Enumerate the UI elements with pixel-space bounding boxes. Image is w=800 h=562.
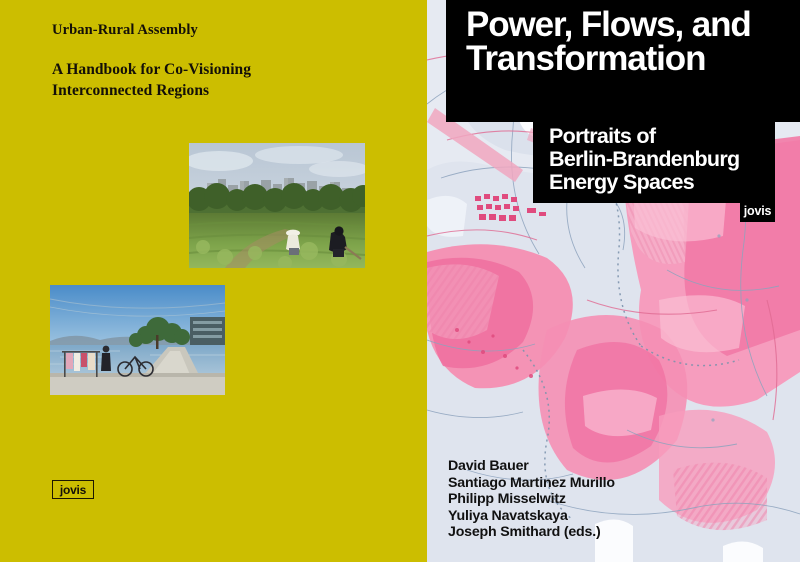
left-cover: Urban-Rural Assembly A Handbook for Co-V…: [0, 0, 427, 562]
waterside-village-photo-art: [50, 285, 225, 395]
editor-name: Santiago Martinez Murillo: [448, 475, 768, 492]
main-title-line2: Transformation: [466, 39, 705, 78]
jovis-logo-left-text: jovis: [60, 484, 86, 496]
urban-farming-photo-art: [189, 143, 365, 268]
jovis-logo-right: jovis: [740, 200, 775, 222]
editor-name: Philipp Misselwitz: [448, 491, 768, 508]
left-main-title: A Handbook for Co-Visioning Interconnect…: [52, 60, 382, 102]
jovis-logo-right-text: jovis: [744, 205, 772, 218]
subtitle-box: Portraits of Berlin-Brandenburg Energy S…: [533, 118, 775, 203]
editor-list: David Bauer Santiago Martinez Murillo Ph…: [448, 458, 768, 541]
main-title-line1: Power, Flows, and: [466, 5, 751, 44]
left-main-title-line2: Interconnected Regions: [52, 82, 209, 99]
subtitle-line3: Energy Spaces: [549, 170, 694, 194]
book-cover-spread: Urban-Rural Assembly A Handbook for Co-V…: [0, 0, 800, 562]
editor-name: David Bauer: [448, 458, 768, 475]
left-cover-title-block: Urban-Rural Assembly A Handbook for Co-V…: [52, 22, 382, 102]
jovis-logo-left: jovis: [52, 480, 94, 499]
series-title: Urban-Rural Assembly: [52, 22, 382, 39]
left-main-title-line1: A Handbook for Co-Visioning: [52, 61, 251, 78]
main-title: Power, Flows, and Transformation: [466, 8, 794, 77]
editor-name: Yuliya Navatskaya: [448, 508, 768, 525]
subtitle-line2: Berlin-Brandenburg: [549, 147, 739, 171]
editor-name: Joseph Smithard (eds.): [448, 524, 768, 541]
subtitle: Portraits of Berlin-Brandenburg Energy S…: [549, 125, 771, 193]
waterside-village-photo: [50, 285, 225, 395]
subtitle-line1: Portraits of: [549, 124, 655, 148]
urban-farming-photo: [189, 143, 365, 268]
main-title-box: Power, Flows, and Transformation: [446, 0, 800, 122]
right-cover: Power, Flows, and Transformation Portrai…: [427, 0, 800, 562]
